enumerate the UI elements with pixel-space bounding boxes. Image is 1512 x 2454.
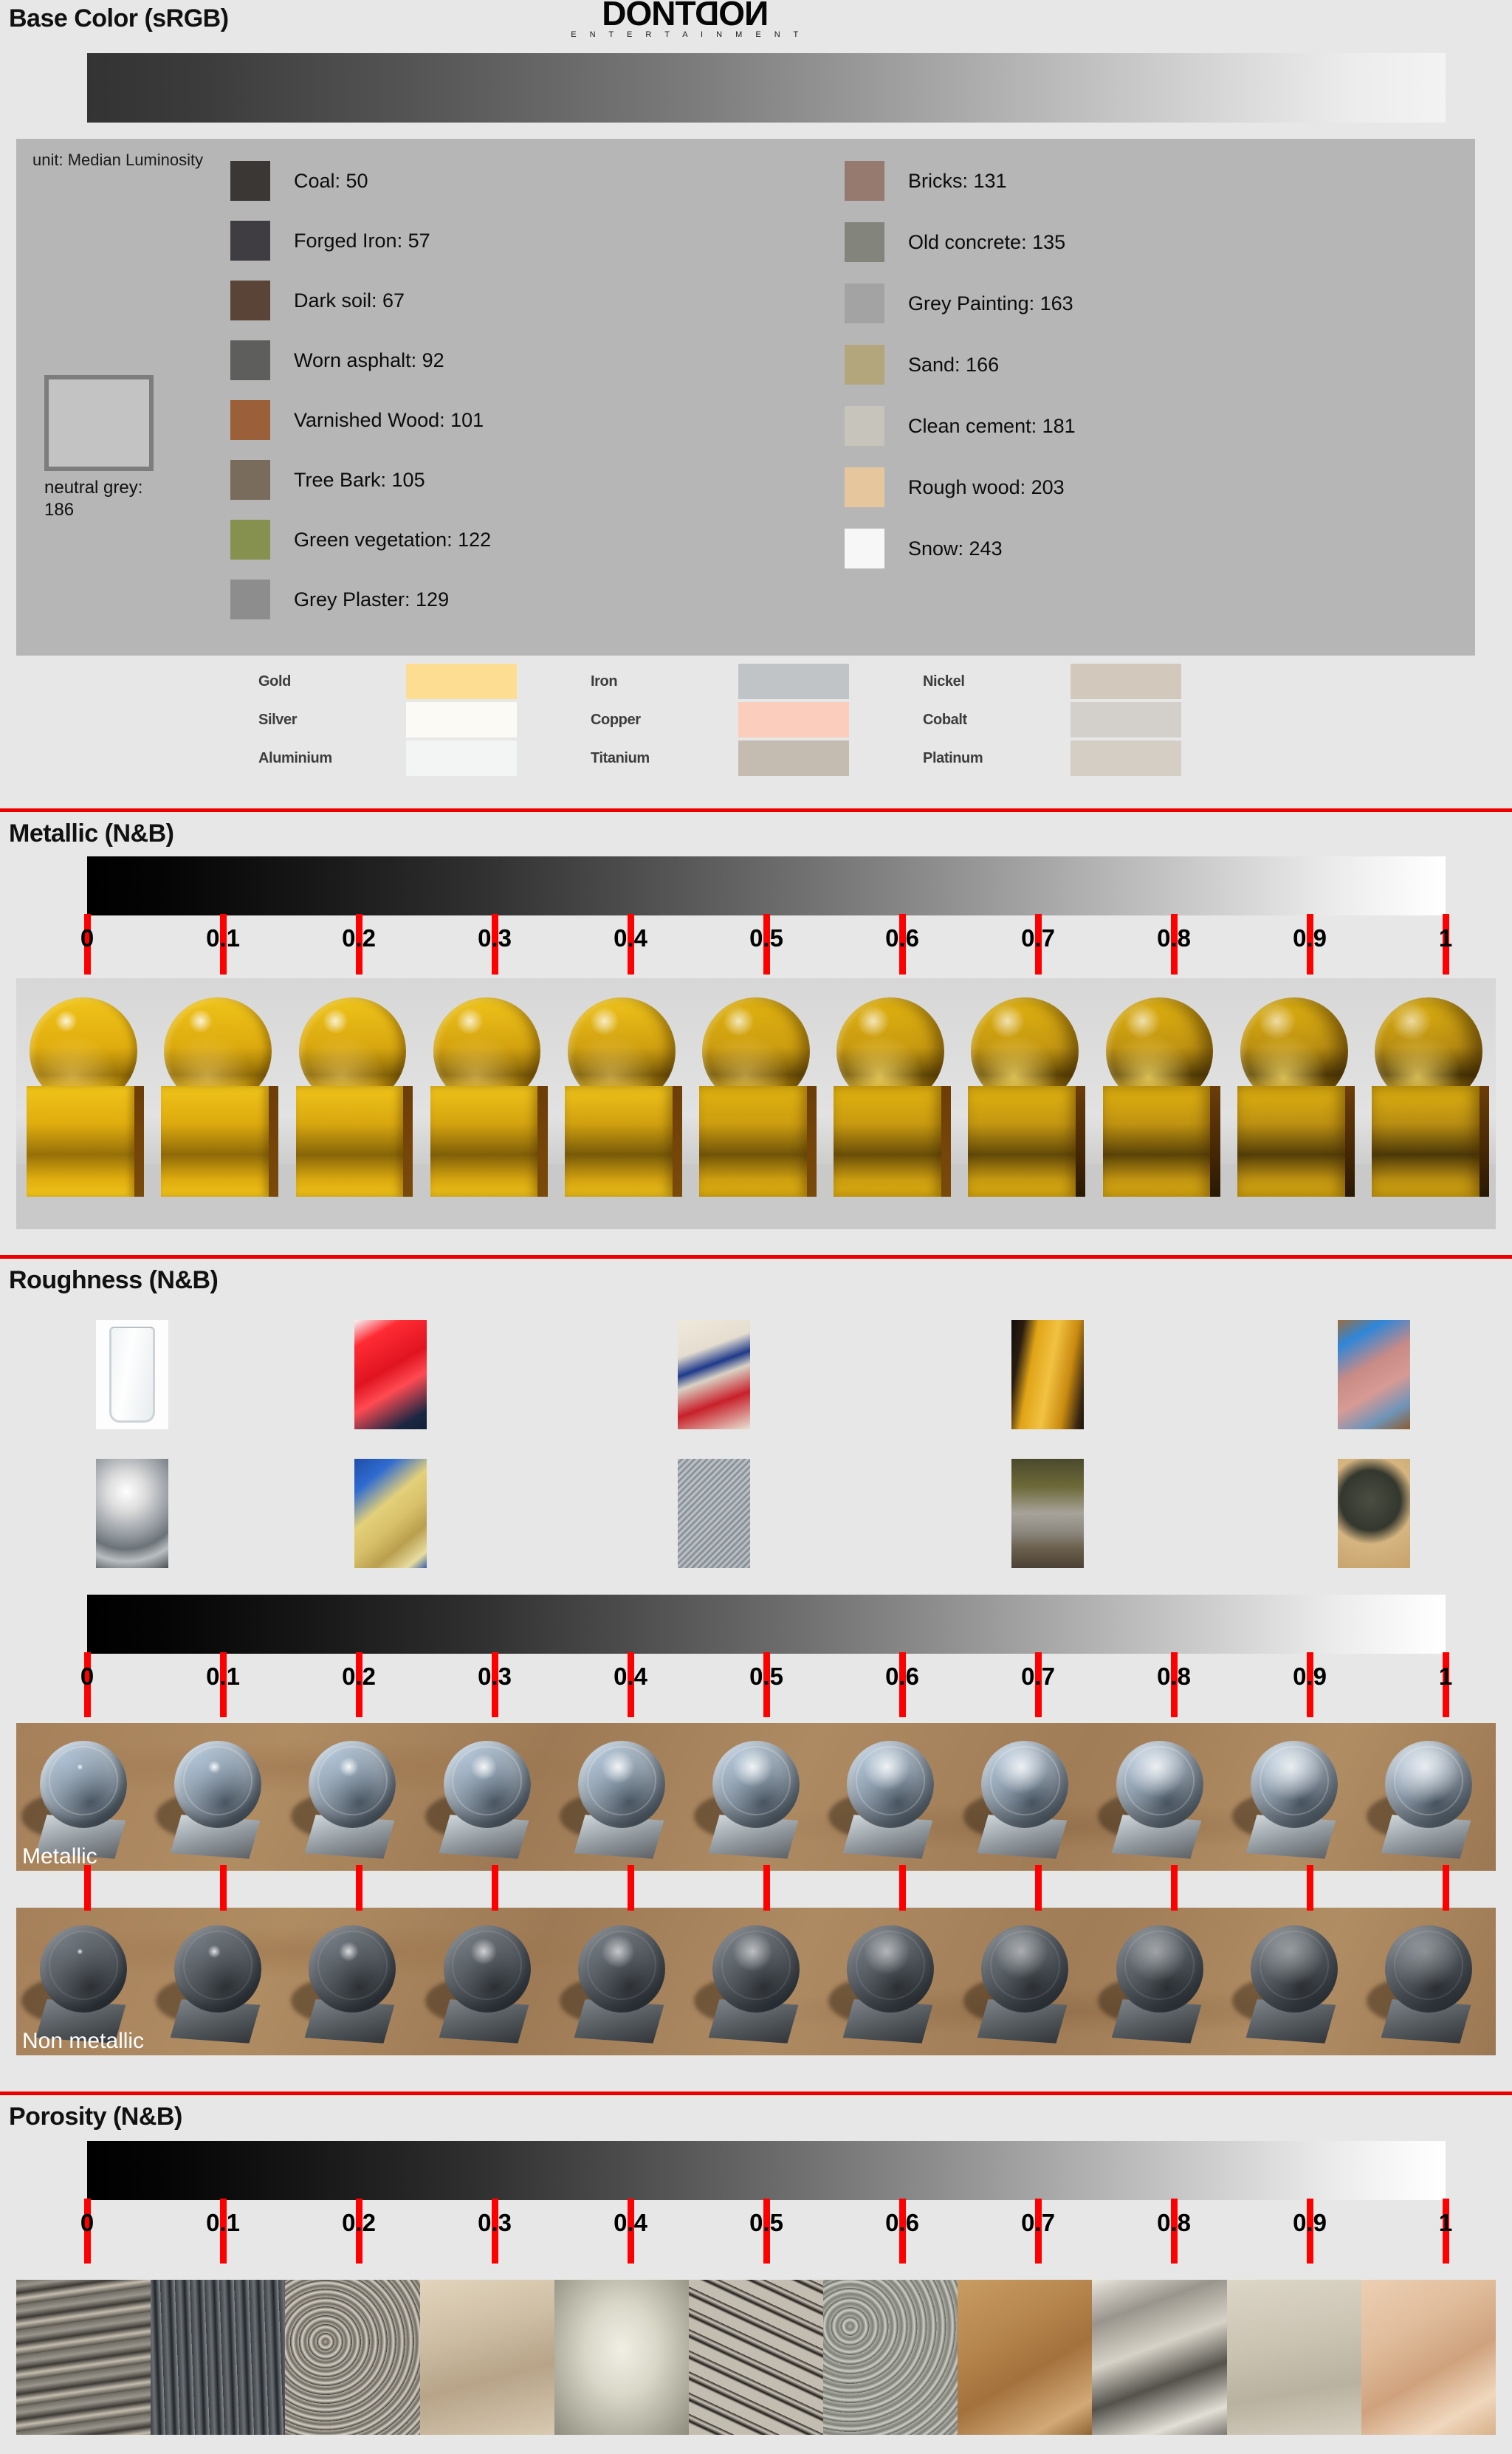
roughness-metallic-sample xyxy=(1227,1723,1361,1871)
dontnod-logo: DONTNOD E N T E R T A I N M E N T xyxy=(552,0,818,40)
material-label: Grey Plaster: 129 xyxy=(294,588,449,611)
scale-tick xyxy=(1307,1865,1313,1911)
logo-wordmark: DONTNOD xyxy=(552,0,818,30)
metallic-cube-side xyxy=(537,1086,547,1197)
roughness-reference-photo xyxy=(1338,1320,1410,1429)
metal-name: Iron xyxy=(591,673,738,690)
metallic-cube xyxy=(834,1086,941,1197)
roughness-nonmetallic-sample xyxy=(823,1908,958,2055)
metallic-cube xyxy=(430,1086,538,1197)
material-row: Forged Iron: 57 xyxy=(230,221,747,261)
roughness-title: Roughness (N&B) xyxy=(9,1266,218,1295)
scale-tick-label: 0.7 xyxy=(1021,1663,1055,1691)
base-color-title: Base Color (sRGB) xyxy=(9,4,229,33)
ball-ring-detail xyxy=(990,1931,1059,2000)
roughness-nonmetallic-row: Non metallic xyxy=(16,1908,1496,2055)
scale-tick xyxy=(220,1865,227,1911)
ball-ring-detail xyxy=(1260,1931,1329,2000)
porosity-photo xyxy=(689,2280,823,2435)
scale-tick-label: 0 xyxy=(80,2209,94,2237)
material-swatch xyxy=(230,460,270,500)
material-label: Old concrete: 135 xyxy=(908,231,1065,254)
material-label: Bricks: 131 xyxy=(908,170,1007,193)
ball-ring-detail xyxy=(587,1931,656,2000)
metallic-cube-side xyxy=(269,1086,278,1197)
metallic-cube-side xyxy=(673,1086,682,1197)
metallic-cube xyxy=(27,1086,134,1197)
neutral-grey-swatch xyxy=(44,375,154,471)
material-row: Old concrete: 135 xyxy=(845,222,1391,262)
metal-entry: Gold xyxy=(258,663,568,700)
porosity-photo xyxy=(16,2280,151,2435)
scale-tick-label: 0.8 xyxy=(1157,924,1191,952)
material-list-right: Bricks: 131Old concrete: 135Grey Paintin… xyxy=(845,161,1391,590)
metallic-sample xyxy=(16,978,151,1229)
metallic-sample xyxy=(689,978,823,1229)
ball-ring-detail xyxy=(1260,1746,1329,1815)
metal-entry: Titanium xyxy=(591,740,901,777)
metallic-cube xyxy=(296,1086,404,1197)
material-row: Rough wood: 203 xyxy=(845,467,1391,507)
neutral-grey-group: neutral grey: 186 xyxy=(44,375,192,521)
material-label: Coal: 50 xyxy=(294,170,368,193)
scale-tick-label: 0.1 xyxy=(206,1663,240,1691)
roughness-reference-photo xyxy=(354,1320,427,1429)
metallic-divider xyxy=(0,808,1512,812)
roughness-scale-ticks: 00.10.20.30.40.50.60.70.80.91 xyxy=(87,1595,1446,1713)
metallic-sample xyxy=(823,978,958,1229)
scale-tick-label: 0.2 xyxy=(342,924,376,952)
material-swatch xyxy=(230,520,270,560)
logo-subtitle: E N T E R T A I N M E N T xyxy=(552,30,818,40)
metal-name: Gold xyxy=(258,673,406,690)
base-color-panel: unit: Median Luminosity neutral grey: 18… xyxy=(16,139,1475,656)
ball-ring-detail xyxy=(49,1931,118,2000)
roughness-reference-photos xyxy=(0,1314,1512,1580)
metal-entry: Aluminium xyxy=(258,740,568,777)
metallic-render-strip xyxy=(16,978,1496,1229)
roughness-reference-photo xyxy=(678,1459,750,1568)
metal-swatch xyxy=(738,740,849,776)
material-swatch xyxy=(845,283,884,323)
metallic-cube xyxy=(161,1086,269,1197)
material-label: Tree Bark: 105 xyxy=(294,469,425,492)
scale-tick-label: 0.6 xyxy=(885,924,919,952)
metallic-cube-side xyxy=(1345,1086,1355,1197)
scale-tick-label: 0.9 xyxy=(1293,1663,1327,1691)
ball-ring-detail xyxy=(1124,1746,1194,1815)
metallic-cube-side xyxy=(403,1086,413,1197)
material-row: Green vegetation: 122 xyxy=(230,520,747,560)
roughness-metallic-sample xyxy=(1361,1723,1496,1871)
metallic-sample xyxy=(151,978,285,1229)
roughness-metallic-sample xyxy=(823,1723,958,1871)
roughness-nonmetallic-sample xyxy=(958,1908,1092,2055)
metallic-sample xyxy=(554,978,689,1229)
base-color-gradient-bar xyxy=(87,53,1446,123)
metallic-sample xyxy=(1361,978,1496,1229)
metal-name: Aluminium xyxy=(258,750,406,767)
material-row: Grey Painting: 163 xyxy=(845,283,1391,323)
material-row: Bricks: 131 xyxy=(845,161,1391,201)
neutral-grey-caption: neutral grey: 186 xyxy=(44,477,192,521)
material-swatch xyxy=(230,161,270,201)
roughness-nonmetallic-sample xyxy=(554,1908,689,2055)
scale-tick-label: 0.6 xyxy=(885,1663,919,1691)
roughness-nonmetallic-sample xyxy=(151,1908,285,2055)
metal-name: Nickel xyxy=(923,673,1071,690)
metallic-title: Metallic (N&B) xyxy=(9,819,173,848)
metal-name: Cobalt xyxy=(923,712,1071,729)
metallic-sample xyxy=(1227,978,1361,1229)
roughness-nonmetallic-sample xyxy=(1092,1908,1226,2055)
scale-tick-label: 0.4 xyxy=(614,924,647,952)
scale-tick xyxy=(1171,1865,1178,1911)
roughness-reference-photo xyxy=(96,1459,168,1568)
scale-tick xyxy=(899,1865,906,1911)
porosity-scale-ticks: 00.10.20.30.40.50.60.70.80.91 xyxy=(87,2141,1446,2259)
material-swatch xyxy=(845,406,884,446)
material-label: Sand: 166 xyxy=(908,354,999,377)
ball-ring-detail xyxy=(1394,1931,1463,2000)
material-row: Grey Plaster: 129 xyxy=(230,580,747,619)
material-swatch xyxy=(230,340,270,380)
metallic-sample xyxy=(958,978,1092,1229)
metallic-cube-side xyxy=(807,1086,817,1197)
material-swatch xyxy=(845,529,884,568)
metal-name: Titanium xyxy=(591,750,738,767)
metal-swatch xyxy=(738,702,849,738)
metal-entry: Silver xyxy=(258,701,568,738)
material-row: Clean cement: 181 xyxy=(845,406,1391,446)
glass-tumbler-icon xyxy=(109,1327,156,1423)
material-label: Rough wood: 203 xyxy=(908,476,1065,499)
metallic-cube-side xyxy=(134,1086,144,1197)
metallic-sample xyxy=(285,978,419,1229)
roughness-metallic-sample xyxy=(285,1723,419,1871)
material-row: Tree Bark: 105 xyxy=(230,460,747,500)
roughness-reference-photo xyxy=(678,1320,750,1429)
ball-ring-detail xyxy=(1124,1931,1194,2000)
material-label: Green vegetation: 122 xyxy=(294,529,491,551)
metal-swatch xyxy=(406,664,517,699)
material-label: Worn asphalt: 92 xyxy=(294,349,444,372)
scale-tick xyxy=(763,1865,770,1911)
scale-tick-label: 0.8 xyxy=(1157,1663,1191,1691)
ball-ring-detail xyxy=(452,1746,521,1815)
metallic-cube-side xyxy=(1210,1086,1220,1197)
metallic-sample xyxy=(420,978,554,1229)
metallic-scale-ticks: 00.10.20.30.40.50.60.70.80.91 xyxy=(87,856,1446,967)
porosity-title: Porosity (N&B) xyxy=(9,2103,182,2131)
metallic-cube xyxy=(1237,1086,1345,1197)
material-label: Dark soil: 67 xyxy=(294,289,405,312)
porosity-photo xyxy=(1227,2280,1361,2435)
scale-tick-label: 0.2 xyxy=(342,1663,376,1691)
scale-tick-label: 1 xyxy=(1439,924,1452,952)
porosity-photo xyxy=(823,2280,958,2435)
material-label: Forged Iron: 57 xyxy=(294,230,430,252)
metal-swatch xyxy=(406,702,517,738)
unit-label: unit: Median Luminosity xyxy=(32,151,203,170)
material-row: Dark soil: 67 xyxy=(230,281,747,320)
ball-ring-detail xyxy=(587,1746,656,1815)
metallic-cube xyxy=(565,1086,673,1197)
material-row: Varnished Wood: 101 xyxy=(230,400,747,440)
scale-tick xyxy=(492,1865,498,1911)
metallic-cube-side xyxy=(941,1086,951,1197)
scale-tick-label: 0.5 xyxy=(749,2209,783,2237)
material-swatch xyxy=(845,222,884,262)
metal-swatch xyxy=(406,740,517,776)
scale-tick-label: 0.3 xyxy=(478,2209,512,2237)
metal-swatch xyxy=(1071,664,1181,699)
logo-word-right: NOD xyxy=(695,0,769,30)
roughness-reference-photo xyxy=(1011,1320,1084,1429)
roughness-metallic-sample xyxy=(958,1723,1092,1871)
metallic-cube-side xyxy=(1076,1086,1085,1197)
material-row: Coal: 50 xyxy=(230,161,747,201)
metallic-cube xyxy=(1103,1086,1211,1197)
porosity-photo xyxy=(1361,2280,1496,2435)
roughness-nonmetallic-sample xyxy=(420,1908,554,2055)
roughness-nonmetallic-sample xyxy=(689,1908,823,2055)
roughness-nonmetallic-sample xyxy=(1361,1908,1496,2055)
porosity-photo xyxy=(151,2280,285,2435)
metal-swatch-grid: GoldSilverAluminiumIronCopperTitaniumNic… xyxy=(258,663,1218,781)
material-swatch xyxy=(230,400,270,440)
scale-tick-label: 0 xyxy=(80,1663,94,1691)
ball-ring-detail xyxy=(317,1746,387,1815)
scale-tick-label: 0.9 xyxy=(1293,924,1327,952)
metal-swatch xyxy=(1071,740,1181,776)
porosity-photo-strip xyxy=(16,2280,1496,2435)
metal-swatch xyxy=(738,664,849,699)
roughness-reference-photo xyxy=(1338,1459,1410,1568)
metal-entry: Platinum xyxy=(923,740,1233,777)
scale-tick-label: 0.7 xyxy=(1021,2209,1055,2237)
metal-entry: Iron xyxy=(591,663,901,700)
material-label: Clean cement: 181 xyxy=(908,415,1076,438)
roughness-metallic-row: Metallic xyxy=(16,1723,1496,1871)
metal-entry: Nickel xyxy=(923,663,1233,700)
scale-tick-label: 0.3 xyxy=(478,924,512,952)
scale-tick-label: 0 xyxy=(80,924,94,952)
scale-tick xyxy=(84,1865,91,1911)
roughness-reference-photo xyxy=(354,1459,427,1568)
material-row: Sand: 166 xyxy=(845,345,1391,385)
pbr-reference-chart: DONTNOD E N T E R T A I N M E N T Base C… xyxy=(0,0,1512,2454)
roughness-nonmetallic-label: Non metallic xyxy=(22,2029,144,2054)
scale-tick-label: 0.7 xyxy=(1021,924,1055,952)
material-swatch xyxy=(845,467,884,507)
metal-swatch xyxy=(1071,702,1181,738)
scale-tick-label: 0.8 xyxy=(1157,2209,1191,2237)
scale-tick-label: 0.3 xyxy=(478,1663,512,1691)
metallic-cube xyxy=(968,1086,1076,1197)
material-label: Grey Painting: 163 xyxy=(908,292,1073,315)
logo-word-left: DONT xyxy=(602,0,695,32)
scale-tick xyxy=(1443,1865,1449,1911)
roughness-metallic-sample xyxy=(554,1723,689,1871)
ball-ring-detail xyxy=(990,1746,1059,1815)
roughness-metallic-sample xyxy=(151,1723,285,1871)
roughness-metallic-sample xyxy=(1092,1723,1226,1871)
material-swatch xyxy=(845,161,884,201)
scale-tick-label: 0.5 xyxy=(749,1663,783,1691)
ball-ring-detail xyxy=(1394,1746,1463,1815)
scale-tick xyxy=(356,1865,362,1911)
porosity-divider xyxy=(0,2092,1512,2095)
ball-ring-detail xyxy=(452,1931,521,2000)
material-swatch xyxy=(230,580,270,619)
scale-tick-label: 1 xyxy=(1439,2209,1452,2237)
scale-tick-label: 0.1 xyxy=(206,924,240,952)
scale-tick-label: 0.4 xyxy=(614,1663,647,1691)
material-label: Snow: 243 xyxy=(908,537,1003,560)
material-swatch xyxy=(230,221,270,261)
metallic-sample xyxy=(1092,978,1226,1229)
roughness-divider xyxy=(0,1255,1512,1259)
metal-entry: Cobalt xyxy=(923,701,1233,738)
metallic-cube xyxy=(699,1086,807,1197)
ball-ring-detail xyxy=(721,1931,791,2000)
metallic-cube xyxy=(1372,1086,1480,1197)
scale-tick xyxy=(1035,1865,1042,1911)
material-label: Varnished Wood: 101 xyxy=(294,409,484,432)
porosity-photo xyxy=(285,2280,419,2435)
scale-tick xyxy=(628,1865,634,1911)
material-list-left: Coal: 50Forged Iron: 57Dark soil: 67Worn… xyxy=(230,161,747,639)
metal-name: Platinum xyxy=(923,750,1071,767)
scale-tick-label: 0.1 xyxy=(206,2209,240,2237)
metallic-cube-side xyxy=(1480,1086,1489,1197)
roughness-reference-photo xyxy=(96,1320,168,1429)
material-row: Worn asphalt: 92 xyxy=(230,340,747,380)
roughness-reference-photo xyxy=(1011,1459,1084,1568)
porosity-photo xyxy=(554,2280,689,2435)
porosity-photo xyxy=(958,2280,1092,2435)
metal-entry: Copper xyxy=(591,701,901,738)
porosity-photo xyxy=(1092,2280,1226,2435)
ball-ring-detail xyxy=(49,1746,118,1815)
ball-ring-detail xyxy=(721,1746,791,1815)
metal-name: Silver xyxy=(258,712,406,729)
material-swatch xyxy=(845,345,884,385)
scale-tick-label: 0.5 xyxy=(749,924,783,952)
roughness-metallic-sample xyxy=(689,1723,823,1871)
porosity-photo xyxy=(420,2280,554,2435)
scale-tick-label: 0.9 xyxy=(1293,2209,1327,2237)
scale-tick-label: 0.6 xyxy=(885,2209,919,2237)
ball-ring-detail xyxy=(317,1931,387,2000)
metal-name: Copper xyxy=(591,712,738,729)
roughness-nonmetallic-sample xyxy=(1227,1908,1361,2055)
roughness-metallic-sample xyxy=(420,1723,554,1871)
scale-tick-label: 0.2 xyxy=(342,2209,376,2237)
scale-tick-label: 1 xyxy=(1439,1663,1452,1691)
material-row: Snow: 243 xyxy=(845,529,1391,568)
material-swatch xyxy=(230,281,270,320)
scale-tick-label: 0.4 xyxy=(614,2209,647,2237)
roughness-nonmetallic-sample xyxy=(285,1908,419,2055)
